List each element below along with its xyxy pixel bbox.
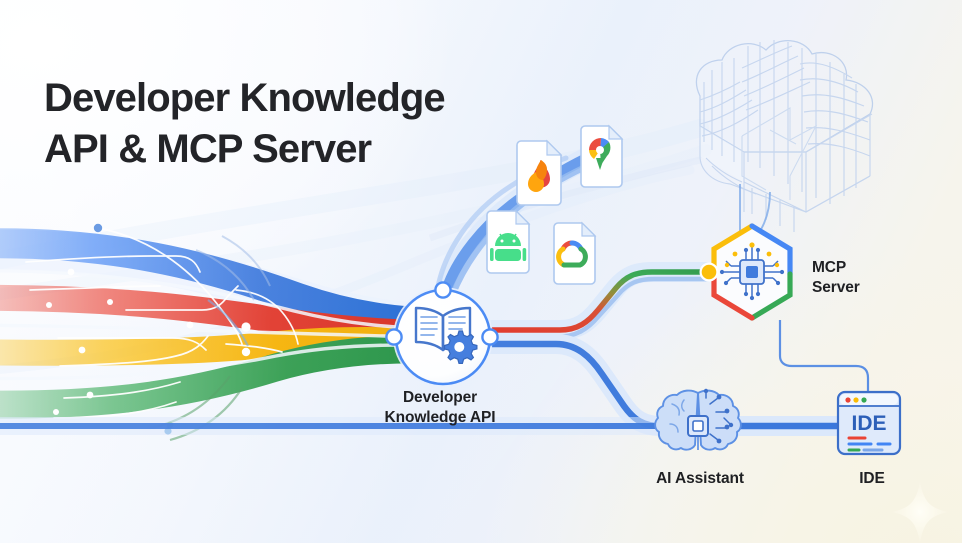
diagram-canvas: IDE Developer Knowledge API & MCP Server… bbox=[0, 0, 962, 543]
page-title: Developer Knowledge API & MCP Server bbox=[44, 73, 445, 175]
label-developer-knowledge-api: Developer Knowledge API bbox=[350, 388, 530, 427]
label-ai-assistant: AI Assistant bbox=[622, 469, 778, 489]
label-ide: IDE bbox=[822, 469, 922, 489]
label-mcp-server: MCP Server bbox=[812, 258, 922, 297]
